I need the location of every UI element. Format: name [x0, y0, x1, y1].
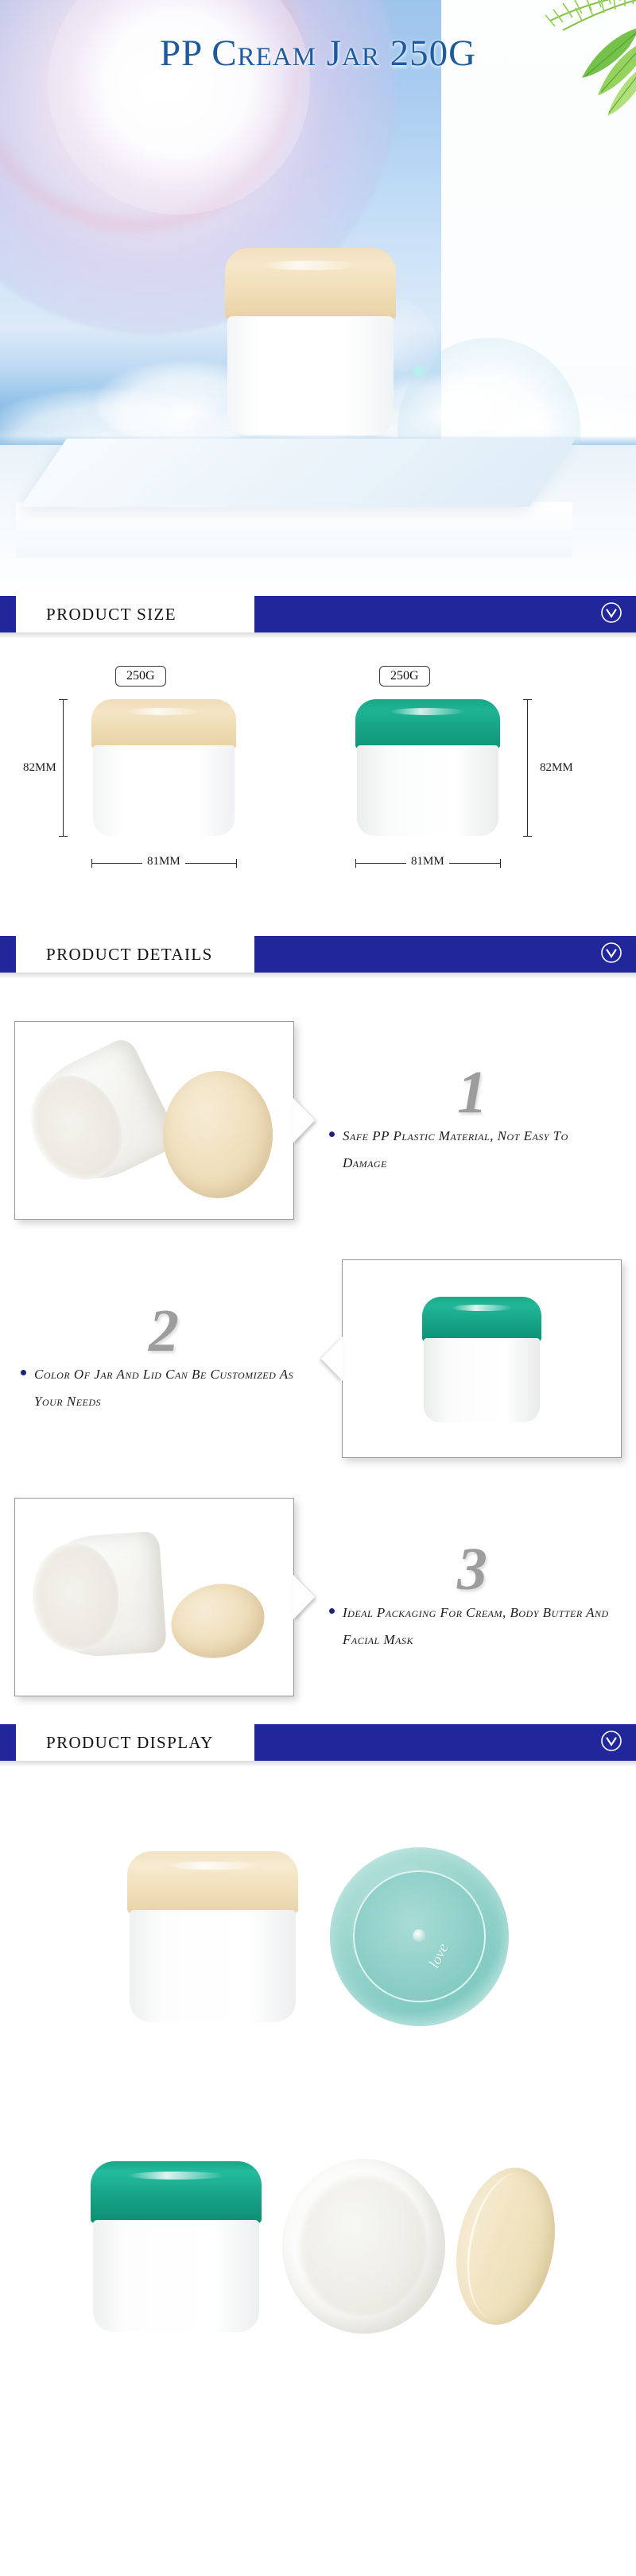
- lid-center-pip: [413, 1929, 425, 1942]
- detail-text: Safe PP Plastic Material, Not Easy To Da…: [343, 1123, 615, 1177]
- jar-lid: [91, 2161, 262, 2223]
- section-header-bar: PRODUCT SIZE: [0, 596, 636, 632]
- section-header-shadow: [0, 632, 636, 639]
- jar-body: [227, 316, 394, 435]
- jar-lid: [355, 699, 500, 748]
- detail-item: 3 Ideal Packaging For Cream, Body Butter…: [0, 1478, 636, 1716]
- section-header-bar: PRODUCT DISPLAY: [0, 1724, 636, 1761]
- dimension-tick: [236, 859, 237, 868]
- detail-text: Color Of Jar And Lid Can Be Customized A…: [34, 1361, 307, 1415]
- width-label: 81MM: [142, 855, 185, 868]
- hero-product-jar: [225, 248, 396, 435]
- detail-item: 1 Safe PP Plastic Material, Not Easy To …: [0, 1001, 636, 1240]
- pedestal-face: [16, 502, 572, 558]
- open-white-jar: [282, 2159, 445, 2334]
- jar-body: [93, 2220, 259, 2332]
- bullet-icon: [329, 1608, 335, 1614]
- dimension-tick: [59, 836, 68, 837]
- detail-copy-block: 3 Ideal Packaging For Cream, Body Butter…: [308, 1541, 636, 1654]
- jar-lid: [422, 1297, 541, 1341]
- callout-arrow-left: [321, 1336, 343, 1381]
- section-product-details: PRODUCT DETAILS: [0, 936, 636, 1724]
- section-header-shadow: [0, 1761, 636, 1767]
- section-header-bar: PRODUCT DETAILS: [0, 936, 636, 973]
- beige-lid-side-view: [444, 2159, 568, 2333]
- dimension-tick: [500, 859, 501, 868]
- chevron-down-circle-icon[interactable]: [599, 941, 623, 969]
- height-label: 82MM: [540, 761, 573, 775]
- detail-copy-block: 2 Color Of Jar And Lid Can Be Customized…: [0, 1302, 328, 1415]
- size-diagram-teal: 250G 82MM 81MM: [328, 666, 615, 904]
- beige-lid: [165, 1576, 272, 1667]
- detail-photo-open-jar: [14, 1021, 294, 1220]
- jar-lid: [225, 248, 396, 319]
- jar-illustration: [91, 699, 236, 836]
- section-title-product-size: PRODUCT SIZE: [16, 596, 254, 632]
- size-diagrams: 250G 82MM 81MM: [0, 639, 636, 936]
- jar-body: [130, 1910, 296, 2022]
- product-detail-page: PP Cream Jar 250G PRODUCT SIZE 250G: [0, 0, 636, 2401]
- jar-body: [357, 745, 498, 836]
- pedestal-surface: [21, 439, 576, 507]
- hero-banner: PP Cream Jar 250G: [0, 0, 636, 596]
- dimension-tick: [91, 859, 92, 868]
- section-product-size: PRODUCT SIZE 250G: [0, 596, 636, 936]
- jar-interior: [297, 2173, 427, 2316]
- jar-lid: [127, 1851, 298, 1913]
- page-title: PP Cream Jar 250G: [0, 32, 636, 75]
- detail-photo-teal-jar: [342, 1259, 622, 1458]
- section-header-shadow: [0, 973, 636, 979]
- display-row: love: [0, 1781, 636, 2091]
- teal-lid-jar: [422, 1297, 541, 1422]
- detail-number: 2: [21, 1302, 307, 1360]
- detail-photo-open-jar: [14, 1498, 294, 1696]
- width-label: 81MM: [406, 855, 449, 868]
- jar-body: [424, 1338, 540, 1422]
- detail-item: 2 Color Of Jar And Lid Can Be Customized…: [0, 1240, 636, 1478]
- detail-text: Ideal Packaging For Cream, Body Butter A…: [343, 1599, 615, 1654]
- teal-lid-top-view: love: [330, 1847, 509, 2026]
- capacity-badge: 250G: [115, 666, 166, 687]
- section-product-display: PRODUCT DISPLAY love: [0, 1724, 636, 2401]
- dimension-tick: [59, 699, 68, 700]
- jar-lid: [91, 699, 236, 748]
- bullet-icon: [21, 1370, 26, 1375]
- jar-illustration: [355, 699, 500, 836]
- teal-lid-jar: [91, 2161, 262, 2332]
- open-jar: [32, 1531, 167, 1661]
- beige-lid-jar: [127, 1851, 298, 2022]
- dimension-tick: [355, 859, 356, 868]
- bullet-icon: [329, 1131, 335, 1137]
- section-title-product-details: PRODUCT DETAILS: [16, 936, 254, 973]
- capacity-badge: 250G: [379, 666, 430, 687]
- detail-number: 3: [329, 1541, 615, 1598]
- height-dimension-line: [63, 699, 64, 836]
- section-title-product-display: PRODUCT DISPLAY: [16, 1724, 254, 1761]
- tilted-open-jar: [14, 1035, 181, 1200]
- beige-lid: [163, 1071, 273, 1198]
- jar-body: [93, 745, 235, 836]
- dimension-tick: [523, 836, 532, 837]
- height-dimension-line: [527, 699, 528, 836]
- detail-number: 1: [329, 1064, 615, 1121]
- callout-arrow-right: [293, 1575, 315, 1619]
- details-list: 1 Safe PP Plastic Material, Not Easy To …: [0, 979, 636, 1724]
- display-gallery: love: [0, 1767, 636, 2401]
- lens-flare-spark: [413, 366, 425, 377]
- display-row: [0, 2091, 636, 2401]
- height-label: 82MM: [23, 761, 56, 775]
- dimension-tick: [523, 699, 532, 700]
- chevron-down-circle-icon[interactable]: [599, 601, 623, 629]
- detail-copy-block: 1 Safe PP Plastic Material, Not Easy To …: [308, 1064, 636, 1177]
- size-diagram-beige: 250G 82MM 81MM: [21, 666, 308, 904]
- callout-arrow-right: [293, 1098, 315, 1143]
- chevron-down-circle-icon[interactable]: [599, 1729, 623, 1757]
